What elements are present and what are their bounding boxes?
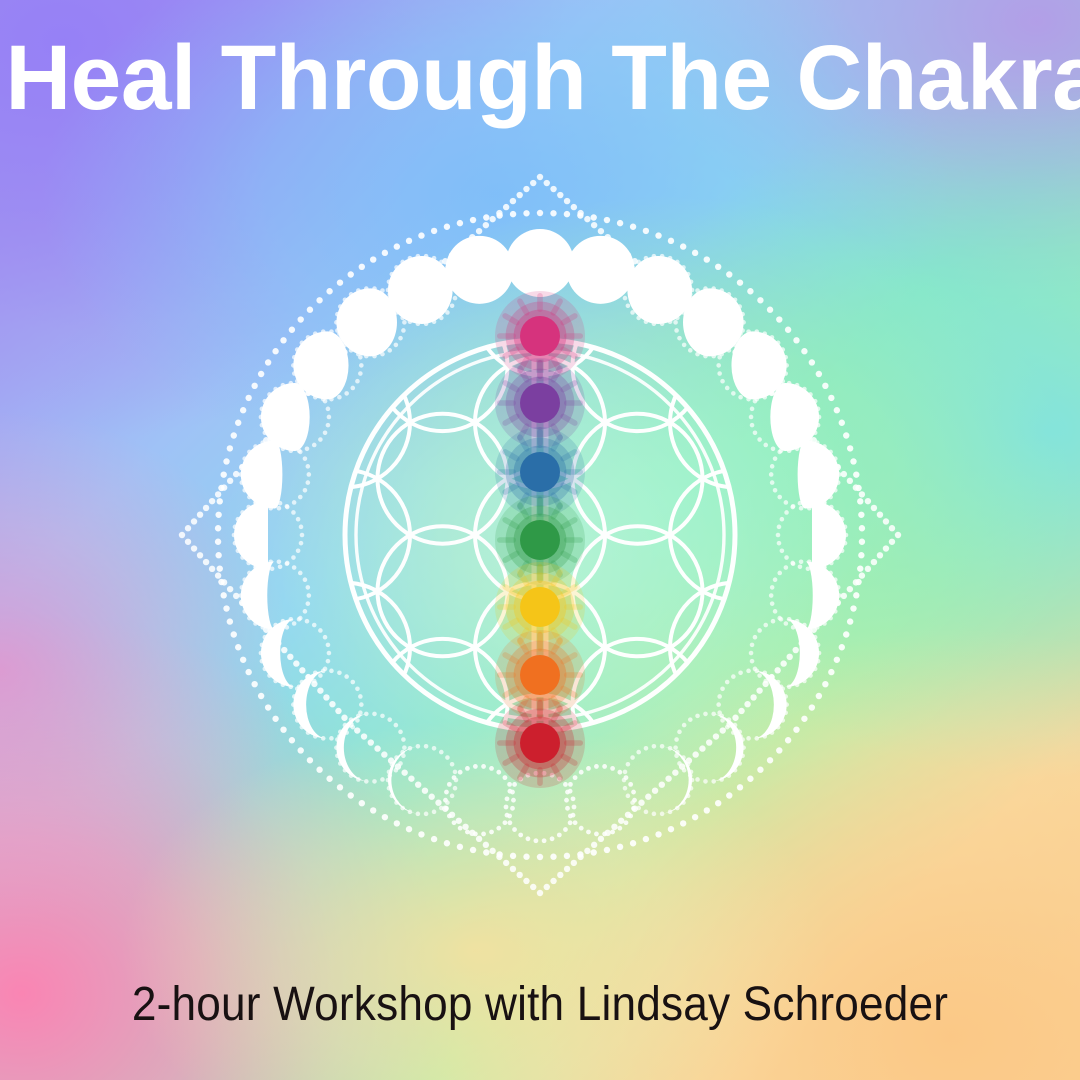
outer-circle-dot <box>801 348 807 354</box>
moon-lit-area <box>234 501 268 569</box>
moon-outline-dot <box>344 730 349 735</box>
moon-outline-dot <box>773 488 778 493</box>
moon-outline-dot <box>773 577 778 582</box>
moon-lit-area <box>805 562 839 630</box>
new-moon-dot <box>628 782 633 787</box>
moon-phase <box>443 764 516 836</box>
star-dot <box>368 739 374 745</box>
outer-circle-dot <box>801 716 807 722</box>
star-dot <box>179 532 185 538</box>
moon-outline-dot <box>677 761 682 766</box>
outer-circle-dot <box>215 512 221 518</box>
outer-circle-dot <box>231 432 237 438</box>
outer-circle-dot <box>457 220 463 226</box>
moon-outline-dot <box>401 753 406 758</box>
moon-outline-dot <box>688 292 693 297</box>
moon-outline-dot <box>716 363 721 368</box>
outer-circle-dot <box>692 814 698 820</box>
outer-circle-dot <box>776 316 782 322</box>
outer-circle-dot <box>785 737 791 743</box>
moon-outline-dot <box>355 379 360 384</box>
moon-outline-dot <box>450 794 455 799</box>
star-dot <box>699 745 705 751</box>
outer-circle-dot <box>859 525 865 531</box>
outer-circle-dot <box>550 210 556 216</box>
moon-outline-dot <box>318 437 323 442</box>
star-dot <box>227 478 233 484</box>
star-dot <box>203 505 209 511</box>
outer-circle-dot <box>221 592 227 598</box>
moon-outline-dot <box>780 517 785 522</box>
new-moon-dot <box>465 766 470 771</box>
moon-outline-dot <box>416 812 421 817</box>
star-dot <box>335 708 341 714</box>
poster-canvas: Heal Through The Chakras 2-hour Workshop… <box>0 0 1080 1080</box>
moon-outline-dot <box>445 755 450 760</box>
star-dot <box>847 478 853 484</box>
star-dot <box>889 525 895 531</box>
outer-circle-dot <box>316 767 322 773</box>
outer-circle-dot <box>757 297 763 303</box>
page-title: Heal Through The Chakras <box>5 32 1074 124</box>
star-dot <box>329 701 335 707</box>
star-dot <box>713 733 719 739</box>
outer-circle-dot <box>630 224 636 230</box>
outer-circle-dot <box>510 853 516 859</box>
star-dot <box>744 701 750 707</box>
outer-circle-dot <box>643 836 649 842</box>
outer-circle-dot <box>850 458 856 464</box>
moon-outline-dot <box>323 667 328 672</box>
chakra-crown-core <box>520 316 560 356</box>
outer-circle-dot <box>843 631 849 637</box>
star-dot <box>738 708 744 714</box>
outer-circle-dot <box>680 243 686 249</box>
star-dot <box>544 180 550 186</box>
star-dot <box>489 848 495 854</box>
moon-outline-dot <box>673 745 678 750</box>
star-dot <box>476 836 482 842</box>
moon-outline-dot <box>784 565 789 570</box>
new-moon-dot <box>447 814 452 819</box>
moon-outline-dot <box>337 671 342 676</box>
outer-circle-dot <box>470 217 476 223</box>
outer-circle-dot <box>537 210 543 216</box>
moon-outline-dot <box>450 303 455 308</box>
star-dot <box>889 539 895 545</box>
star-dot <box>672 769 678 775</box>
outer-circle-dot <box>822 383 828 389</box>
star-dot <box>786 654 792 660</box>
outer-circle-dot <box>370 256 376 262</box>
moon-outline-dot <box>398 336 403 341</box>
moon-outline-dot <box>358 371 363 376</box>
star-dot <box>517 192 523 198</box>
new-moon-dot <box>610 830 615 835</box>
star-dot <box>591 842 597 848</box>
moon-outline-dot <box>753 635 758 640</box>
outer-circle-dot <box>839 420 845 426</box>
star-dot <box>476 228 482 234</box>
outer-circle-dot <box>726 792 732 798</box>
moon-outline-dot <box>398 730 403 735</box>
full-moon <box>567 236 635 304</box>
moon-outline-dot <box>757 392 762 397</box>
outer-circle-dot <box>847 618 853 624</box>
outer-circle-dot <box>444 224 450 230</box>
chakra-solar-plexus-core <box>520 587 560 627</box>
outer-circle-dot <box>227 445 233 451</box>
moon-outline-dot <box>359 363 364 368</box>
outer-circle-dot <box>240 657 246 663</box>
star-dot <box>435 800 441 806</box>
moon-outline-dot <box>703 779 708 784</box>
moon-outline-dot <box>350 725 355 730</box>
outer-circle-dot <box>370 807 376 813</box>
new-moon-dot <box>452 820 457 825</box>
moon-outline-dot <box>358 710 363 715</box>
new-moon-dot <box>489 766 494 771</box>
new-moon-dot <box>571 796 576 801</box>
outer-circle-dot <box>785 327 791 333</box>
outer-circle-dot <box>643 228 649 234</box>
moon-phase <box>334 712 407 784</box>
star-dot <box>659 781 665 787</box>
outer-circle-dot <box>251 681 257 687</box>
moon-outline-dot <box>773 456 778 461</box>
new-moon-dot <box>617 770 622 775</box>
chakra-solar-plexus-ray <box>564 604 583 610</box>
new-moon-dot <box>534 838 539 843</box>
moon-outline-dot <box>677 336 682 341</box>
outer-circle-dot <box>604 847 610 853</box>
outer-circle-dot <box>564 211 570 217</box>
star-dot <box>883 518 889 524</box>
moon-outline-dot <box>725 725 730 730</box>
new-moon-dot <box>579 826 584 831</box>
moon-phase <box>564 764 637 836</box>
moon-outline-dot <box>296 517 301 522</box>
outer-circle-dot <box>382 250 388 256</box>
outer-circle-dot <box>359 800 365 806</box>
moon-outline-dot <box>453 296 458 301</box>
outer-circle-dot <box>215 525 221 531</box>
moon-outline-dot <box>769 472 774 477</box>
moon-outline-dot <box>784 621 789 626</box>
moon-phase <box>776 499 849 571</box>
outer-circle-dot <box>337 784 343 790</box>
moon-lit-area <box>812 501 846 569</box>
new-moon-dot <box>496 826 501 831</box>
outer-circle-dot <box>215 539 221 545</box>
moon-outline-dot <box>307 593 312 598</box>
moon-outline-dot <box>401 328 406 333</box>
new-moon-dot <box>444 790 449 795</box>
moon-outline-dot <box>717 371 722 376</box>
moon-outline-dot <box>731 674 736 679</box>
flower-cell <box>573 414 703 544</box>
outer-circle-dot <box>550 854 556 860</box>
outer-circle-dot <box>265 704 271 710</box>
new-moon-dot <box>511 798 516 803</box>
moon-outline-dot <box>337 734 342 739</box>
moon-outline-dot <box>398 761 403 766</box>
moon-outline-dot <box>798 501 803 506</box>
moon-phase <box>622 744 695 816</box>
star-dot <box>281 647 287 653</box>
moon-outline-dot <box>355 686 360 691</box>
new-moon-dot <box>518 833 523 838</box>
outer-circle-dot <box>847 445 853 451</box>
moon-outline-dot <box>298 571 303 576</box>
chakra-sacral-core <box>520 655 560 695</box>
outer-circle-dot <box>704 256 710 262</box>
chakra-third-eye-ray <box>497 400 516 406</box>
moon-outline-dot <box>394 723 399 728</box>
moon-outline-dot <box>763 443 768 448</box>
outer-circle-dot <box>245 669 251 675</box>
outer-circle-dot <box>289 327 295 333</box>
star-dot <box>557 872 563 878</box>
new-moon-dot <box>563 827 568 832</box>
outer-circle-dot <box>839 644 845 650</box>
moon-outline-dot <box>350 386 355 391</box>
outer-circle-dot <box>359 264 365 270</box>
outer-circle-dot <box>776 747 782 753</box>
new-moon-dot <box>507 820 512 825</box>
flower-cell <box>378 526 508 656</box>
outer-circle-dot <box>767 757 773 763</box>
chakra-sacral-ray <box>497 672 516 678</box>
outer-circle-dot <box>265 359 271 365</box>
moon-outline-dot <box>763 623 768 628</box>
moon-outline-dot <box>292 500 297 505</box>
moon-outline-dot <box>791 440 796 445</box>
moon-outline-dot <box>652 744 657 749</box>
new-moon-dot <box>465 830 470 835</box>
moon-outline-dot <box>326 423 331 428</box>
moon-outline-dot <box>777 450 782 455</box>
new-moon-dot <box>573 775 578 780</box>
moon-outline-dot <box>688 717 693 722</box>
moon-outline-dot <box>278 564 283 569</box>
outer-circle-dot <box>737 279 743 285</box>
chakra-root-ray <box>537 700 543 719</box>
outer-circle-dot <box>406 238 412 244</box>
moon-outline-dot <box>644 746 649 751</box>
outer-circle-dot <box>793 726 799 732</box>
new-moon-dot <box>572 805 577 810</box>
star-dot <box>191 518 197 524</box>
chakra-crown-ray <box>497 333 516 339</box>
moon-outline-dot <box>776 533 781 538</box>
outer-circle-dot <box>221 471 227 477</box>
star-dot <box>557 192 563 198</box>
outer-circle-dot <box>726 271 732 277</box>
star-dot <box>185 525 191 531</box>
moon-outline-dot <box>312 623 317 628</box>
star-dot <box>401 769 407 775</box>
chakra-third-eye-core <box>520 383 560 423</box>
moon-outline-dot <box>626 794 631 799</box>
outer-circle-dot <box>737 784 743 790</box>
star-dot <box>197 512 203 518</box>
outer-circle-dot <box>858 552 864 558</box>
moon-lit-area <box>241 440 283 508</box>
star-dot <box>227 586 233 592</box>
moon-outline-dot <box>329 736 334 741</box>
new-moon-dot <box>481 832 486 837</box>
moon-outline-dot <box>285 504 290 509</box>
new-moon-dot <box>542 838 547 843</box>
moon-outline-dot <box>306 464 311 469</box>
moon-outline-dot <box>318 673 323 678</box>
moon-outline-dot <box>688 348 693 353</box>
star-dot <box>550 186 556 192</box>
moon-outline-dot <box>798 564 803 569</box>
moon-outline-dot <box>439 806 444 811</box>
outer-circle-dot <box>859 539 865 545</box>
outer-circle-dot <box>668 238 674 244</box>
star-dot <box>865 498 871 504</box>
star-dot <box>756 687 762 693</box>
moon-outline-dot <box>717 355 722 360</box>
moon-outline-dot <box>296 549 301 554</box>
moon-outline-dot <box>323 430 328 435</box>
outer-circle-dot <box>470 847 476 853</box>
outer-circle-dot <box>496 212 502 218</box>
outer-circle-dot <box>757 767 763 773</box>
star-dot <box>598 836 604 842</box>
outer-circle-dot <box>418 232 424 238</box>
moon-outline-dot <box>432 810 437 815</box>
page-subtitle: 2-hour Workshop with Lindsay Schroeder <box>43 977 1037 1032</box>
star-dot <box>530 884 536 890</box>
moon-outline-dot <box>424 812 429 817</box>
outer-circle-dot <box>258 693 264 699</box>
moon-phase <box>445 236 513 304</box>
moon-outline-dot <box>677 730 682 735</box>
moon-outline-dot <box>799 559 804 564</box>
moon-outline-dot <box>355 718 360 723</box>
outer-circle-dot <box>655 831 661 837</box>
chakra-heart-core <box>520 520 560 560</box>
moon-outline-dot <box>770 585 775 590</box>
moon-outline-dot <box>703 712 708 717</box>
new-moon-dot <box>586 830 591 835</box>
star-dot <box>415 781 421 787</box>
moon-phase <box>567 236 635 304</box>
moon-outline-dot <box>344 391 349 396</box>
chakra-heart-ray <box>564 537 583 543</box>
moon-outline-dot <box>725 386 730 391</box>
outer-circle-dot <box>496 851 502 857</box>
moon-outline-dot <box>298 495 303 500</box>
new-moon-dot <box>507 782 512 787</box>
outer-circle-dot <box>747 776 753 782</box>
moon-outline-dot <box>738 671 743 676</box>
outer-circle-dot <box>853 592 859 598</box>
moon-outline-dot <box>305 683 310 688</box>
star-dot <box>215 491 221 497</box>
star-dot <box>374 745 380 751</box>
moon-phase <box>673 712 746 784</box>
chakra-heart-ray <box>497 537 516 543</box>
moon-outline-dot <box>277 506 282 511</box>
moon-outline-dot <box>674 328 679 333</box>
moon-outline-dot <box>636 806 641 811</box>
moon-outline-dot <box>623 786 628 791</box>
moon-outline-dot <box>799 506 804 511</box>
moon-outline-dot <box>682 298 687 303</box>
new-moon-dot <box>571 813 576 818</box>
outer-circle-dot <box>483 214 489 220</box>
star-dot <box>215 572 221 578</box>
outer-circle-dot <box>272 716 278 722</box>
moon-outline-dot <box>344 674 349 679</box>
moon-phase <box>291 669 364 741</box>
moon-outline-dot <box>285 561 290 566</box>
chakra-sacral-ray <box>537 632 543 651</box>
outer-circle-dot <box>457 844 463 850</box>
outer-circle-dot <box>307 757 313 763</box>
star-dot <box>550 878 556 884</box>
chakra-root-core <box>520 723 560 763</box>
star-dot <box>883 545 889 551</box>
moon-outline-dot <box>277 559 282 564</box>
new-moon-dot <box>628 814 633 819</box>
outer-circle-dot <box>251 383 257 389</box>
moon-outline-dot <box>771 383 776 388</box>
star-dot <box>293 660 299 666</box>
star-dot <box>503 204 509 210</box>
moon-outline-dot <box>753 399 758 404</box>
star-dot <box>841 471 847 477</box>
moon-outline-dot <box>682 343 687 348</box>
outer-circle-dot <box>289 737 295 743</box>
outer-circle-dot <box>382 814 388 820</box>
star-dot <box>287 654 293 660</box>
new-moon-dot <box>503 820 508 825</box>
outer-circle-dot <box>834 407 840 413</box>
moon-outline-dot <box>326 643 331 648</box>
moon-outline-dot <box>306 601 311 606</box>
star-dot <box>233 471 239 477</box>
moon-outline-dot <box>763 387 768 392</box>
star-dot <box>780 660 786 666</box>
moon-outline-dot <box>779 617 784 622</box>
moon-outline-dot <box>350 680 355 685</box>
moon-outline-dot <box>757 628 762 633</box>
moon-outline-dot <box>791 561 796 566</box>
outer-circle-dot <box>704 807 710 813</box>
new-moon-dot <box>481 764 486 769</box>
star-dot <box>877 552 883 558</box>
new-moon-dot <box>447 782 452 787</box>
moon-outline-dot <box>777 525 782 530</box>
moon-outline-dot <box>387 773 392 778</box>
moon-outline-dot <box>292 565 297 570</box>
new-moon-dot <box>512 782 517 787</box>
moon-outline-dot <box>750 643 755 648</box>
outer-circle-dot <box>418 831 424 837</box>
moon-outline-dot <box>623 770 628 775</box>
moon-outline-dot <box>297 684 302 689</box>
outer-circle-dot <box>235 420 241 426</box>
new-moon-dot <box>594 832 599 837</box>
star-dot <box>341 715 347 721</box>
moon-outline-dot <box>753 430 758 435</box>
